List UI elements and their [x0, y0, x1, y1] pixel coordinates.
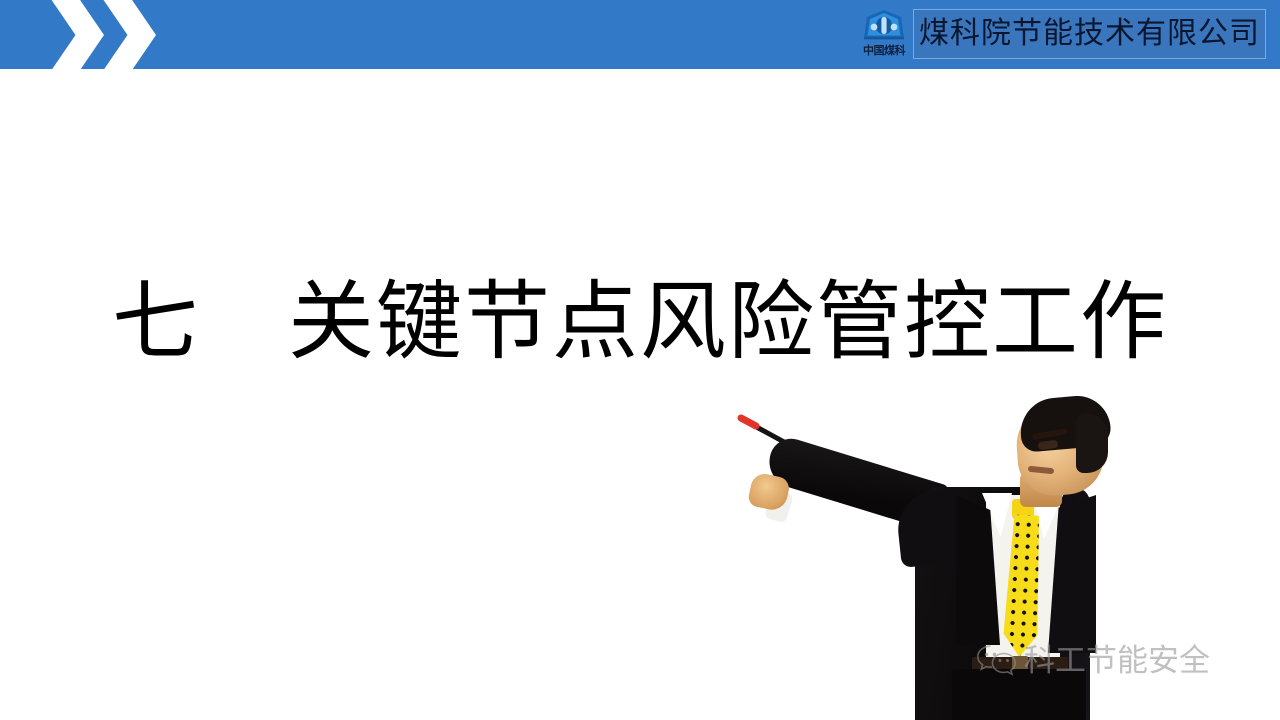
watermark-text: 科工节能安全	[1024, 644, 1210, 678]
slide-header-bar: 中国煤科 煤科院节能技术有限公司	[0, 0, 1280, 69]
company-name-text: 煤科院节能技术有限公司	[919, 17, 1260, 51]
wechat-watermark: 科工节能安全	[975, 643, 1210, 679]
company-name-box: 煤科院节能技术有限公司	[913, 9, 1266, 59]
page-title: 七 关键节点风险管控工作	[0, 272, 1280, 372]
slide-canvas: 中国煤科 煤科院节能技术有限公司 七 关键节点风险管控工作	[0, 0, 1280, 720]
wechat-icon	[975, 643, 1017, 679]
zhongguo-meike-emblem-icon	[857, 8, 911, 44]
chevron-right-icon	[42, 0, 104, 69]
presenter-hair-side	[1076, 413, 1108, 473]
